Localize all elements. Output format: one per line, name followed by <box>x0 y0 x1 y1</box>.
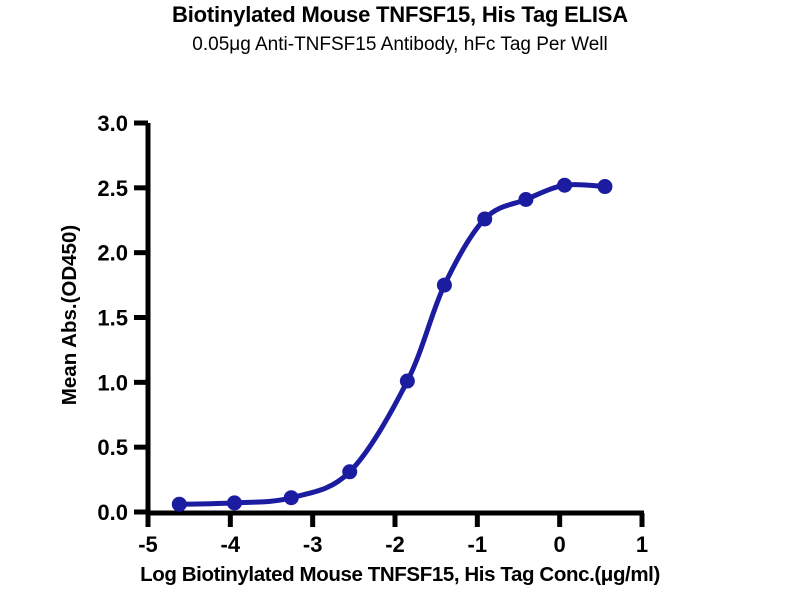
x-tick-label: 1 <box>636 532 648 557</box>
x-tick-label: -4 <box>221 532 241 557</box>
data-point <box>437 278 452 293</box>
x-tick-label: -2 <box>385 532 405 557</box>
x-tick-label: -3 <box>303 532 323 557</box>
y-tick-label: 0.5 <box>97 435 128 460</box>
y-tick-label: 1.5 <box>97 306 128 331</box>
data-point <box>477 211 492 226</box>
x-tick-label-group: -5-4-3-2-101 <box>138 532 648 557</box>
sigmoid-fit-curve <box>179 185 605 505</box>
data-point <box>597 179 612 194</box>
data-point <box>227 495 242 510</box>
y-tick-label: 3.0 <box>97 111 128 136</box>
data-point <box>557 178 572 193</box>
x-axis-label: Log Biotinylated Mouse TNFSF15, His Tag … <box>0 563 800 587</box>
y-tick-label: 1.0 <box>97 370 128 395</box>
data-point-group <box>172 178 613 512</box>
elisa-chart-figure: Biotinylated Mouse TNFSF15, His Tag ELIS… <box>0 0 800 600</box>
data-point <box>400 374 415 389</box>
data-point <box>284 490 299 505</box>
data-point <box>342 464 357 479</box>
plot-area: 0.00.51.01.52.02.53.0 -5-4-3-2-101 <box>0 0 800 600</box>
x-tick-label: 0 <box>554 532 566 557</box>
x-tick-label: -1 <box>468 532 488 557</box>
data-point <box>172 497 187 512</box>
x-tick-label: -5 <box>138 532 158 557</box>
y-tick-label: 2.5 <box>97 176 128 201</box>
y-tick-label: 2.0 <box>97 241 128 266</box>
y-tick-label: 0.0 <box>97 500 128 525</box>
data-point <box>518 192 533 207</box>
y-tick-label-group: 0.00.51.01.52.02.53.0 <box>97 111 128 525</box>
